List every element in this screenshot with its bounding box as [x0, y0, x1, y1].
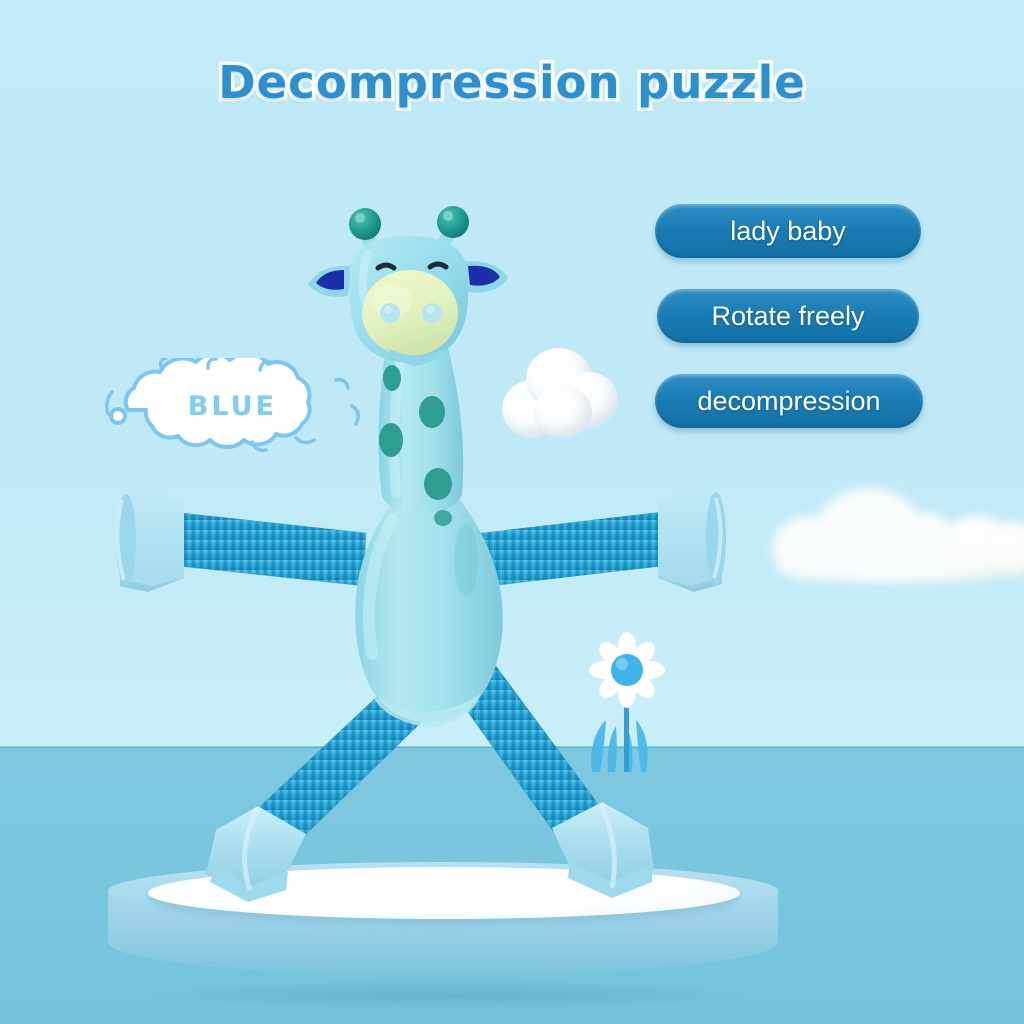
horn-ball-left	[349, 208, 381, 240]
giraffe-neck	[379, 348, 464, 526]
giraffe-pop-tube-toy	[0, 0, 1024, 1024]
giraffe-muzzle	[362, 270, 458, 356]
right-arm-suction-cup	[658, 488, 726, 592]
left-arm-tube	[178, 513, 366, 586]
horn-ball-right	[437, 206, 469, 238]
left-arm-suction-cup	[116, 490, 184, 592]
right-arm-tube	[472, 512, 664, 588]
product-image-canvas: Decompression puzzle BLUE lady baby	[0, 0, 1024, 1024]
giraffe-head	[350, 236, 469, 362]
